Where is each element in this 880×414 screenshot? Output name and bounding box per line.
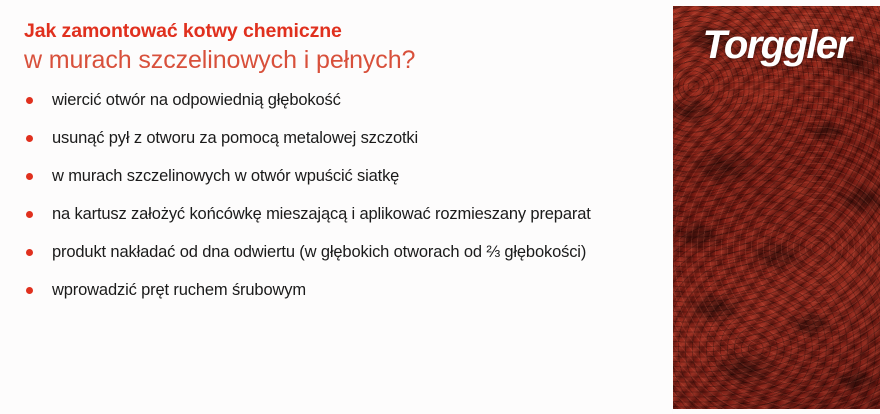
list-item-label: produkt nakładać od dna odwiertu (w głęb… bbox=[52, 241, 652, 264]
panel-bottom-strip bbox=[673, 409, 880, 414]
page-title: Jak zamontować kotwy chemiczne w murach … bbox=[24, 18, 662, 77]
slide-root: Jak zamontować kotwy chemiczne w murach … bbox=[0, 0, 880, 414]
list-item-label: wprowadzić pręt ruchem śrubowym bbox=[52, 279, 652, 302]
content-column: Jak zamontować kotwy chemiczne w murach … bbox=[0, 0, 672, 414]
brand-logo: Torggler bbox=[673, 22, 880, 68]
list-item: w murach szczelinowych w otwór wpuścić s… bbox=[24, 165, 662, 188]
list-item-label: w murach szczelinowych w otwór wpuścić s… bbox=[52, 165, 652, 188]
bullet-dot-icon bbox=[26, 97, 33, 104]
list-item-label: wiercić otwór na odpowiednią głębokość bbox=[52, 89, 652, 112]
bullet-dot-icon bbox=[26, 135, 33, 142]
bullet-dot-icon bbox=[26, 211, 33, 218]
bullet-dot-icon bbox=[26, 249, 33, 256]
list-item: produkt nakładać od dna odwiertu (w głęb… bbox=[24, 241, 662, 264]
list-item: wprowadzić pręt ruchem śrubowym bbox=[24, 279, 662, 302]
list-item: usunąć pył z otworu za pomocą metalowej … bbox=[24, 127, 662, 150]
bullet-dot-icon bbox=[26, 173, 33, 180]
page-title-line-1: Jak zamontować kotwy chemiczne bbox=[24, 18, 662, 44]
list-item: wiercić otwór na odpowiednią głębokość bbox=[24, 89, 662, 112]
brand-texture-panel: Torggler bbox=[673, 6, 880, 409]
bullet-dot-icon bbox=[26, 287, 33, 294]
page-title-line-2: w murach szczelinowych i pełnych? bbox=[24, 44, 662, 77]
list-item-label: usunąć pył z otworu za pomocą metalowej … bbox=[52, 127, 652, 150]
instruction-list: wiercić otwór na odpowiednią głębokość u… bbox=[24, 89, 662, 302]
list-item: na kartusz założyć końcówkę mieszającą i… bbox=[24, 203, 662, 226]
list-item-label: na kartusz założyć końcówkę mieszającą i… bbox=[52, 203, 652, 226]
